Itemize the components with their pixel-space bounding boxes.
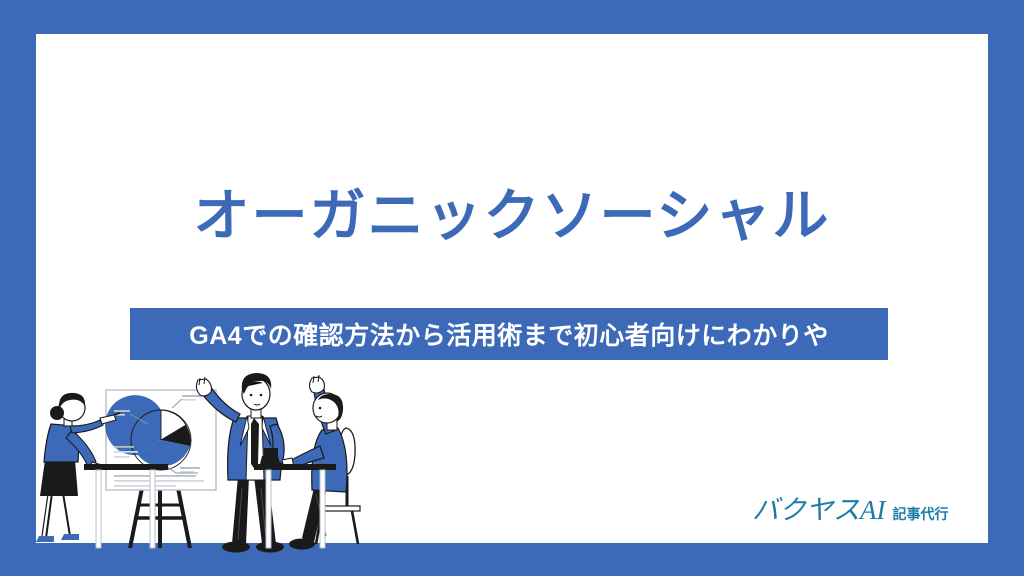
- floor-band: [30, 543, 396, 576]
- slide-subtitle-text: GA4での確認方法から活用術まで初心者向けにわかりや: [189, 316, 828, 352]
- slide-canvas: オーガニックソーシャル GA4での確認方法から活用術まで初心者向けにわかりや バ…: [0, 0, 1024, 576]
- business-team-presentation-illustration: [30, 368, 396, 576]
- brand-logo-name: バクヤスAI: [752, 488, 885, 527]
- left-frame-strip: [30, 368, 36, 576]
- slide-subtitle-band: GA4での確認方法から活用術まで初心者向けにわかりや: [130, 308, 888, 360]
- brand-logo: バクヤスAI 記事代行: [752, 488, 948, 527]
- brand-logo-service: 記事代行: [892, 504, 948, 524]
- slide-title: オーガニックソーシャル: [0, 185, 1024, 247]
